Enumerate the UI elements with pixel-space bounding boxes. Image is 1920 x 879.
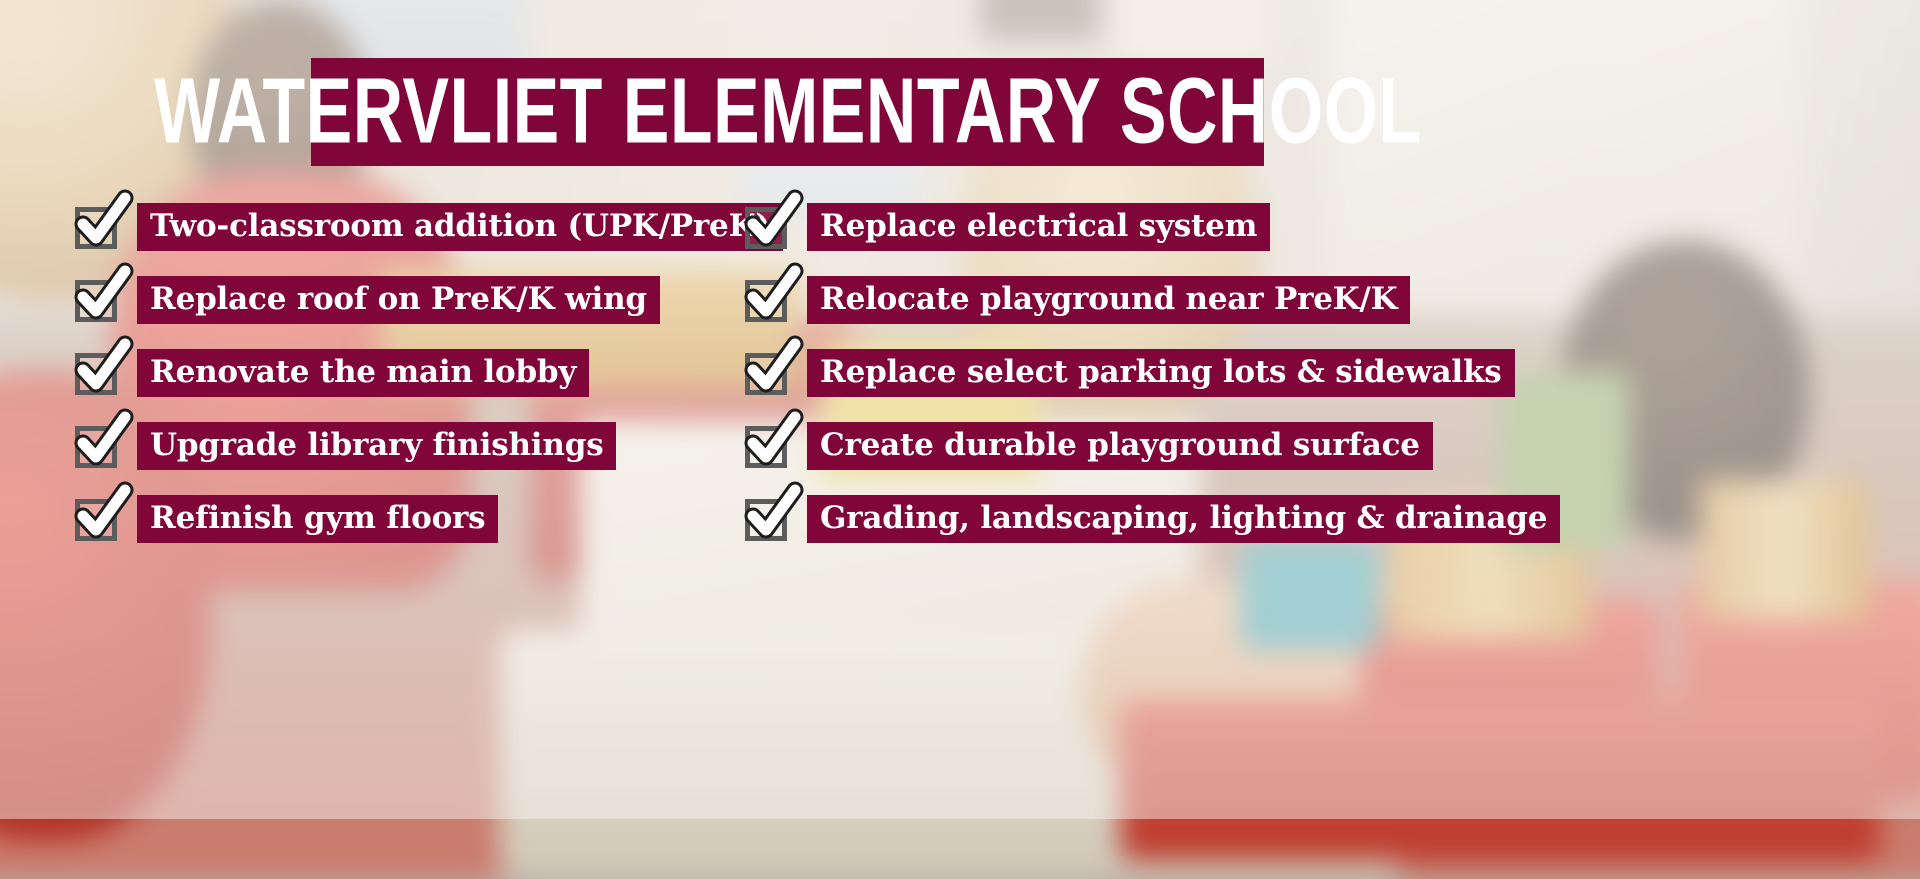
- checklist-item-label-chip: Replace roof on PreK/K wing: [137, 276, 660, 324]
- checklist-item-label: Refinish gym floors: [150, 503, 485, 534]
- checklist-item-label: Replace roof on PreK/K wing: [150, 284, 647, 315]
- checkmark-icon[interactable]: [745, 497, 789, 541]
- checklist-item-label-chip: Upgrade library finishings: [137, 422, 616, 470]
- checklist-item[interactable]: Refinish gym floors: [75, 495, 783, 543]
- checklist-item-label: Relocate playground near PreK/K: [820, 284, 1397, 315]
- checklist-item[interactable]: Replace roof on PreK/K wing: [75, 276, 783, 324]
- checklist-item-label: Two-classroom addition (UPK/PreK): [150, 211, 770, 242]
- checkmark-icon[interactable]: [75, 278, 119, 322]
- checklist-column-right: Replace electrical systemRelocate playgr…: [745, 203, 1560, 568]
- checklist-item-label: Create durable playground surface: [820, 430, 1420, 461]
- checklist-item-label: Upgrade library finishings: [150, 430, 603, 461]
- page-title: WATERVLIET ELEMENTARY SCHOOL: [154, 66, 1422, 159]
- checklist-item-label-chip: Refinish gym floors: [137, 495, 498, 543]
- checklist-item-label-chip: Create durable playground surface: [807, 422, 1433, 470]
- checkmark-icon[interactable]: [75, 351, 119, 395]
- checkmark-icon[interactable]: [75, 205, 119, 249]
- checklist-item[interactable]: Relocate playground near PreK/K: [745, 276, 1560, 324]
- checkmark-icon[interactable]: [75, 424, 119, 468]
- checkmark-icon[interactable]: [745, 424, 789, 468]
- checklist-item-label-chip: Grading, landscaping, lighting & drainag…: [807, 495, 1560, 543]
- checkmark-icon[interactable]: [745, 351, 789, 395]
- checklist-item[interactable]: Replace select parking lots & sidewalks: [745, 349, 1560, 397]
- checklist-item-label-chip: Replace electrical system: [807, 203, 1270, 251]
- school-title-banner: WATERVLIET ELEMENTARY SCHOOL: [311, 58, 1264, 166]
- checklist-item[interactable]: Two-classroom addition (UPK/PreK): [75, 203, 783, 251]
- checklist-item[interactable]: Replace electrical system: [745, 203, 1560, 251]
- checklist-item-label: Grading, landscaping, lighting & drainag…: [820, 503, 1547, 534]
- checkmark-icon[interactable]: [745, 205, 789, 249]
- checklist-item[interactable]: Renovate the main lobby: [75, 349, 783, 397]
- checklist-item-label-chip: Relocate playground near PreK/K: [807, 276, 1410, 324]
- checkmark-icon[interactable]: [75, 497, 119, 541]
- checklist-item-label: Renovate the main lobby: [150, 357, 576, 388]
- checklist-item[interactable]: Upgrade library finishings: [75, 422, 783, 470]
- checklist-item-label-chip: Replace select parking lots & sidewalks: [807, 349, 1515, 397]
- checklist-item-label-chip: Two-classroom addition (UPK/PreK): [137, 203, 783, 251]
- checklist-column-left: Two-classroom addition (UPK/PreK)Replace…: [75, 203, 783, 568]
- checklist-item[interactable]: Grading, landscaping, lighting & drainag…: [745, 495, 1560, 543]
- checkmark-icon[interactable]: [745, 278, 789, 322]
- checklist-item[interactable]: Create durable playground surface: [745, 422, 1560, 470]
- checklist-item-label-chip: Renovate the main lobby: [137, 349, 589, 397]
- checklist-item-label: Replace select parking lots & sidewalks: [820, 357, 1502, 388]
- checklist-item-label: Replace electrical system: [820, 211, 1257, 242]
